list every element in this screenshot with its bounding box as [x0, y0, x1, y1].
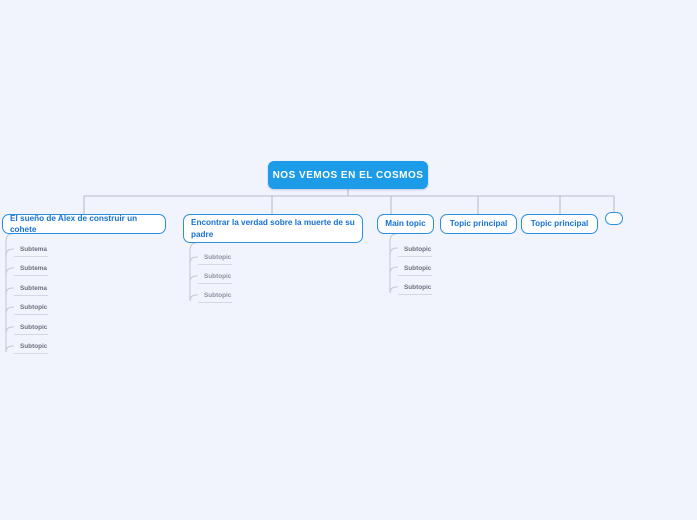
leaf-node-1-3-label: Subtema [20, 285, 47, 292]
branch-node-5-label: Topic principal [531, 218, 589, 229]
leaf-node-1-6-label: Subtopic [20, 343, 47, 350]
leaf-node-3-2-label: Subtopic [404, 265, 431, 272]
leaf-node-1-2-label: Subtema [20, 265, 47, 272]
branch-node-3-label: Main topic [385, 218, 425, 229]
branch-node-1[interactable]: El sueño de Alex de construir un cohete [2, 214, 166, 234]
leaf-node-3-3[interactable]: Subtopic [398, 280, 432, 295]
root-node[interactable]: NOS VEMOS EN EL COSMOS [268, 161, 428, 189]
branch-node-5[interactable]: Topic principal [521, 214, 598, 234]
leaf-node-1-5[interactable]: Subtopic [14, 320, 48, 335]
leaf-node-3-2[interactable]: Subtopic [398, 261, 432, 276]
branch-node-1-label: El sueño de Alex de construir un cohete [10, 213, 158, 235]
leaf-node-2-3-label: Subtopic [204, 292, 231, 299]
branch-node-2[interactable]: Encontrar la verdad sobre la muerte de s… [183, 214, 363, 243]
branch-node-4-label: Topic principal [450, 218, 508, 229]
leaf-node-1-3[interactable]: Subtema [14, 281, 48, 296]
leaf-node-1-2[interactable]: Subtema [14, 261, 48, 276]
mindmap-canvas[interactable]: NOS VEMOS EN EL COSMOS El sueño de Alex … [0, 0, 697, 520]
leaf-node-2-3[interactable]: Subtopic [198, 288, 232, 303]
connector-lines [0, 0, 697, 520]
branch-node-2-label: Encontrar la verdad sobre la muerte de s… [191, 217, 355, 239]
leaf-node-1-6[interactable]: Subtopic [14, 339, 48, 354]
branch-node-4[interactable]: Topic principal [440, 214, 517, 234]
leaf-node-1-4-label: Subtopic [20, 304, 47, 311]
root-node-label: NOS VEMOS EN EL COSMOS [273, 170, 424, 181]
leaf-node-2-2-label: Subtopic [204, 273, 231, 280]
leaf-node-3-3-label: Subtopic [404, 284, 431, 291]
leaf-node-2-1-label: Subtopic [204, 254, 231, 261]
branch-node-6-empty[interactable] [605, 212, 623, 225]
branch-node-3[interactable]: Main topic [377, 214, 434, 234]
leaf-node-3-1-label: Subtopic [404, 246, 431, 253]
leaf-node-2-2[interactable]: Subtopic [198, 269, 232, 284]
leaf-node-3-1[interactable]: Subtopic [398, 242, 432, 257]
leaf-node-1-1[interactable]: Subtema [14, 242, 48, 257]
leaf-node-1-1-label: Subtema [20, 246, 47, 253]
leaf-node-1-5-label: Subtopic [20, 324, 47, 331]
leaf-node-1-4[interactable]: Subtopic [14, 300, 48, 315]
leaf-node-2-1[interactable]: Subtopic [198, 250, 232, 265]
